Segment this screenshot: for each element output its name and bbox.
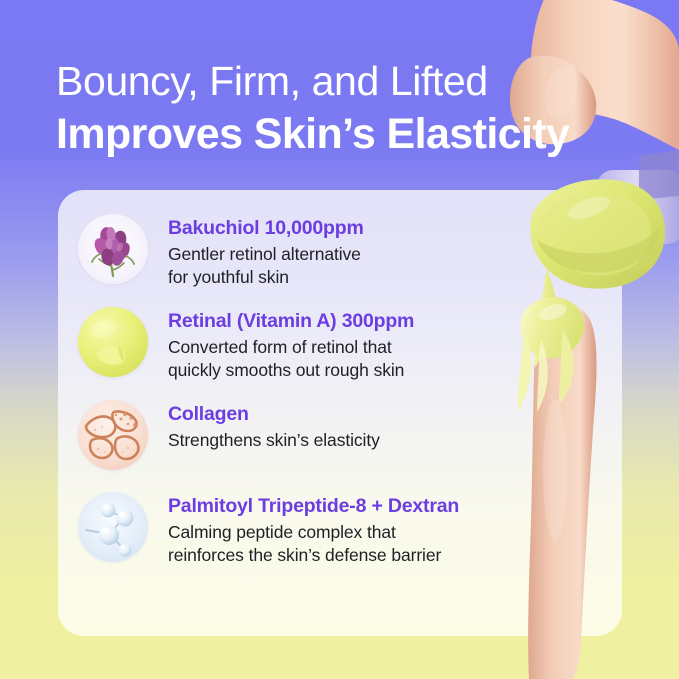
ingredient-text: Bakuchiol 10,000ppm Gentler retinol alte…: [168, 212, 604, 289]
ingredient-text: Palmitoyl Tripeptide-8 + Dextran Calming…: [168, 490, 604, 567]
list-item: Bakuchiol 10,000ppm Gentler retinol alte…: [58, 212, 622, 289]
list-item: Collagen Strengthens skin’s elasticity: [58, 398, 622, 474]
ingredient-description: Strengthens skin’s elasticity: [168, 429, 604, 452]
yellow-cream-swatch-icon: [78, 307, 148, 377]
list-item: Palmitoyl Tripeptide-8 + Dextran Calming…: [58, 490, 622, 567]
ingredient-card: Bakuchiol 10,000ppm Gentler retinol alte…: [58, 190, 622, 636]
ingredient-description: Calming peptide complex that reinforces …: [168, 521, 604, 567]
ingredient-title: Retinal (Vitamin A) 300ppm: [168, 309, 604, 333]
ingredient-description: Gentler retinol alternative for youthful…: [168, 243, 604, 289]
lavender-flower-icon: [78, 214, 148, 284]
ingredient-description: Converted form of retinol that quickly s…: [168, 336, 604, 382]
ingredient-text: Retinal (Vitamin A) 300ppm Converted for…: [168, 305, 604, 382]
list-item: Retinal (Vitamin A) 300ppm Converted for…: [58, 305, 622, 382]
infographic-poster: Bouncy, Firm, and Lifted Improves Skin’s…: [0, 0, 679, 679]
headline-block: Bouncy, Firm, and Lifted Improves Skin’s…: [56, 56, 656, 160]
headline-line-2: Improves Skin’s Elasticity: [56, 108, 656, 160]
ingredient-text: Collagen Strengthens skin’s elasticity: [168, 398, 604, 452]
collagen-cells-icon: [78, 400, 148, 470]
ingredient-list: Bakuchiol 10,000ppm Gentler retinol alte…: [58, 190, 622, 583]
peptide-molecule-icon: [78, 492, 148, 562]
ingredient-title: Palmitoyl Tripeptide-8 + Dextran: [168, 494, 604, 518]
headline-line-1: Bouncy, Firm, and Lifted: [56, 56, 656, 106]
ingredient-title: Bakuchiol 10,000ppm: [168, 216, 604, 240]
ingredient-title: Collagen: [168, 402, 604, 426]
